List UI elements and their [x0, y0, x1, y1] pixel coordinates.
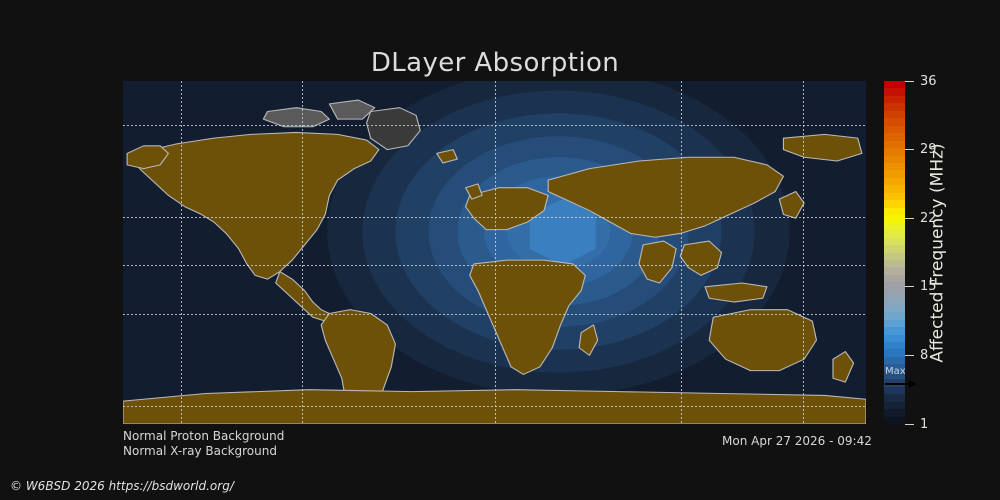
credit-line: © W6BSD 2026 https://bsdworld.org/	[10, 479, 234, 493]
colorbar-axis-label: Affected Frequency (MHz)	[924, 81, 952, 424]
app-window: DLayer Absorption	[0, 0, 1000, 500]
timestamp: Mon Apr 27 2026 - 09:42	[722, 434, 872, 448]
status-proton: Normal Proton Background	[123, 429, 284, 444]
world-map[interactable]	[123, 81, 866, 424]
colorbar-tick-dash	[905, 81, 914, 82]
colorbar-tick-dash	[905, 149, 914, 150]
status-xray: Normal X-ray Background	[123, 444, 284, 459]
colorbar-segment	[884, 417, 905, 425]
page-title: DLayer Absorption	[0, 48, 990, 78]
colorbar-tick-dash	[905, 286, 914, 287]
status-block: Normal Proton Background Normal X-ray Ba…	[123, 429, 284, 459]
colorbar-tick-dash	[905, 355, 914, 356]
max-arrow-icon	[885, 380, 917, 388]
max-marker: Max	[884, 366, 924, 390]
map-canvas	[123, 81, 866, 424]
max-marker-label: Max	[885, 366, 906, 377]
colorbar-axis-label-text: Affected Frequency (MHz)	[928, 143, 948, 362]
colorbar-tick-dash	[905, 424, 914, 425]
colorbar-tick-dash	[905, 218, 914, 219]
